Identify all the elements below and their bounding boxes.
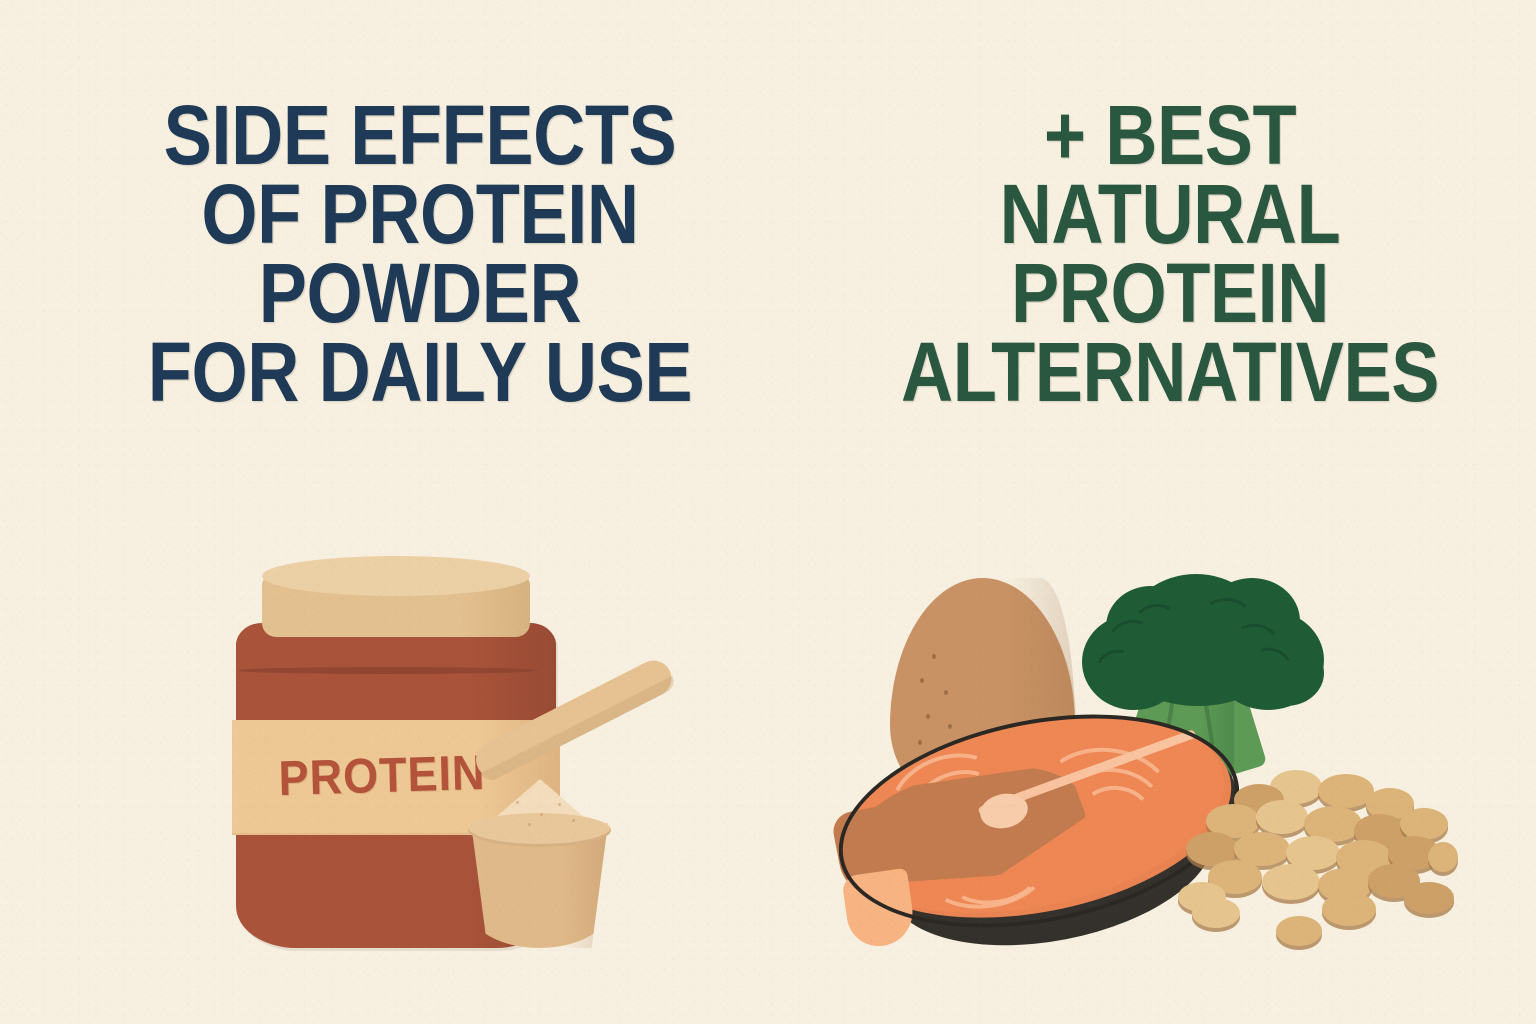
powder-fleck: [516, 801, 519, 804]
powder-fleck: [572, 819, 575, 822]
bean: [1400, 808, 1448, 840]
bean-pile: [1178, 770, 1460, 955]
scoop-rim: [468, 813, 611, 847]
jar-ridge-line: [238, 667, 538, 674]
bean: [1256, 800, 1308, 834]
headline-right-line-2: NATURAL: [869, 175, 1471, 254]
headline-left-line-1: SIDE EFFECTS: [76, 96, 764, 175]
salmon-flesh-tip: [841, 868, 917, 950]
natural-foods-illustration: [840, 560, 1460, 970]
headline-right: + BEST NATURAL PROTEIN ALTERNATIVES: [869, 96, 1471, 412]
bean: [1276, 916, 1322, 946]
powder-fleck: [540, 813, 543, 816]
bean: [1322, 892, 1376, 926]
bean: [1262, 864, 1320, 900]
egg-speck: [944, 690, 948, 695]
powder-fleck: [528, 823, 531, 826]
infographic-canvas: SIDE EFFECTS OF PROTEIN POWDER FOR DAILY…: [0, 0, 1536, 1024]
egg-speck: [926, 714, 930, 719]
egg-speck: [932, 654, 936, 659]
headline-right-line-1: + BEST: [869, 96, 1471, 175]
headline-right-line-4: ALTERNATIVES: [869, 333, 1471, 412]
headline-right-line-3: PROTEIN: [869, 254, 1471, 333]
jar-lid-top: [262, 556, 530, 596]
headline-left-line-3: POWDER: [76, 254, 764, 333]
headline-left: SIDE EFFECTS OF PROTEIN POWDER FOR DAILY…: [76, 96, 764, 412]
headline-left-line-4: FOR DAILY USE: [76, 333, 764, 412]
bean: [1404, 882, 1454, 914]
bean: [1428, 842, 1458, 872]
headline-left-line-2: OF PROTEIN: [76, 175, 764, 254]
egg-speck: [920, 678, 924, 683]
bean: [1192, 898, 1240, 928]
protein-jar-illustration: PROTEIN: [228, 565, 698, 965]
powder-fleck: [558, 803, 561, 806]
